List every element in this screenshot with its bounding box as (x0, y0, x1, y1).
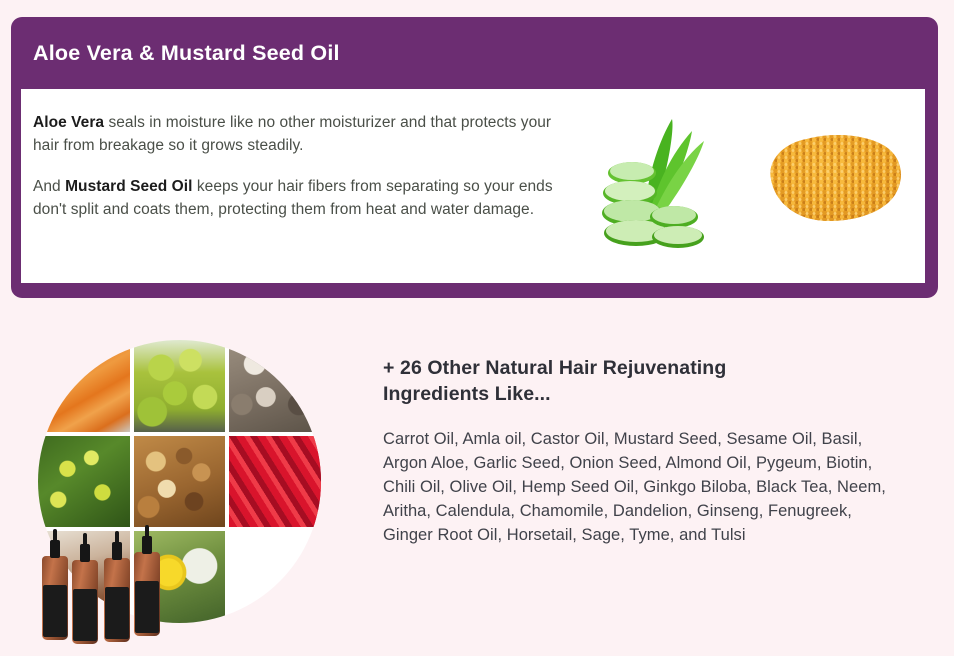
mustard-lead-text: Mustard Seed Oil (65, 178, 192, 195)
ingredients-list-text: Carrot Oil, Amla oil, Castor Oil, Mustar… (383, 427, 905, 547)
collage-tile-red-chilies (229, 436, 321, 528)
aloe-vera-photo (586, 101, 746, 261)
oil-bottle (72, 560, 98, 644)
section-heading: + 26 Other Natural Hair Rejuvenating Ing… (383, 355, 833, 407)
other-ingredients-section: + 26 Other Natural Hair Rejuvenating Ing… (0, 312, 954, 656)
aloe-body-text: seals in moisture like no other moisturi… (33, 114, 551, 154)
oil-bottle (42, 556, 68, 640)
mustard-paragraph: And Mustard Seed Oil keeps your hair fib… (33, 175, 553, 221)
oil-bottles-overlay (38, 536, 170, 646)
mustard-seed-photo (749, 117, 919, 237)
collage-tile-green-peas (134, 340, 226, 432)
panel-title: Aloe Vera & Mustard Seed Oil (33, 41, 340, 66)
collage-tile-castor-beans (229, 340, 321, 432)
ingredients-collage (38, 340, 334, 636)
oil-bottle (134, 552, 160, 636)
mustard-prefix-text: And (33, 178, 65, 195)
copy-block: Aloe Vera seals in moisture like no othe… (33, 111, 553, 221)
aloe-paragraph: Aloe Vera seals in moisture like no othe… (33, 111, 553, 157)
oil-bottle (104, 558, 130, 642)
collage-tile-carrots (38, 340, 130, 432)
aloe-mustard-panel: Aloe Vera & Mustard Seed Oil Aloe Vera s… (11, 17, 938, 298)
aloe-lead-text: Aloe Vera (33, 114, 104, 131)
collage-tile-mixed-beans (134, 436, 226, 528)
collage-tile-neem-leaves (38, 436, 130, 528)
panel-content-card: Aloe Vera seals in moisture like no othe… (21, 89, 925, 283)
ingredients-text-column: + 26 Other Natural Hair Rejuvenating Ing… (383, 355, 913, 547)
collage-tile-ginseng-root (229, 531, 321, 623)
